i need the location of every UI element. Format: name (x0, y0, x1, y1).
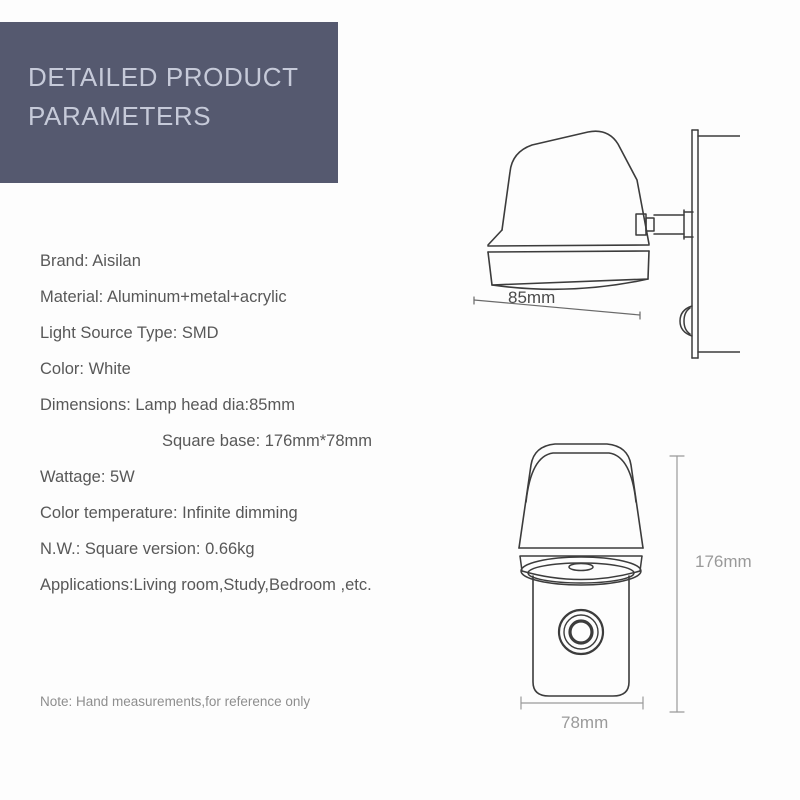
knob-outer-ring (559, 610, 603, 654)
wall-lamp-side-view-drawing (440, 110, 740, 380)
header-banner: DETAILED PRODUCT PARAMETERS (0, 22, 338, 183)
lamp-head-band-line-1 (488, 245, 649, 246)
dimension-label-78mm: 78mm (561, 713, 608, 733)
spec-item-material: Material: Aluminum+metal+acrylic (40, 279, 470, 315)
specification-list: Brand: Aisilan Material: Aluminum+metal+… (40, 243, 470, 603)
spec-item-color-temperature: Color temperature: Infinite dimming (40, 495, 470, 531)
lamp-head-band-line-2 (488, 251, 649, 252)
lamp-head-outline (502, 131, 649, 244)
spec-item-wattage: Wattage: 5W (40, 459, 470, 495)
knob-inner-ring (570, 621, 592, 643)
spec-item-color: Color: White (40, 351, 470, 387)
spec-item-brand: Brand: Aisilan (40, 243, 470, 279)
product-parameters-page: DETAILED PRODUCT PARAMETERS Brand: Aisil… (0, 0, 800, 800)
spec-item-square-base: Square base: 176mm*78mm (40, 423, 470, 459)
banner-title-line-2: PARAMETERS (28, 97, 338, 136)
measurement-note: Note: Hand measurements,for reference on… (40, 694, 310, 709)
lamp-arm-joint-collar (646, 218, 654, 231)
wall-plate-switch-knob-inner (684, 308, 690, 334)
dimension-line-85mm (474, 300, 640, 315)
dimension-label-85mm: 85mm (508, 288, 555, 308)
lamp-head-bottom-rim (488, 251, 649, 285)
spec-item-dimensions: Dimensions: Lamp head dia:85mm (40, 387, 470, 423)
lamp-head-left-edge (488, 230, 502, 245)
lamp-base-outline (533, 576, 629, 696)
wall-plate-switch-knob (680, 306, 692, 336)
lamp-shade-outline (519, 444, 643, 548)
lamp-rim-center-slot (569, 564, 593, 571)
dimension-label-176mm: 176mm (695, 552, 752, 572)
spec-item-applications: Applications:Living room,Study,Bedroom ,… (40, 567, 470, 603)
wall-lamp-front-view-drawing (495, 430, 795, 730)
lamp-shade-inner-curve (526, 453, 636, 502)
banner-title-line-1: DETAILED PRODUCT (28, 58, 338, 97)
spec-item-net-weight: N.W.: Square version: 0.66kg (40, 531, 470, 567)
spec-item-light-source-type: Light Source Type: SMD (40, 315, 470, 351)
